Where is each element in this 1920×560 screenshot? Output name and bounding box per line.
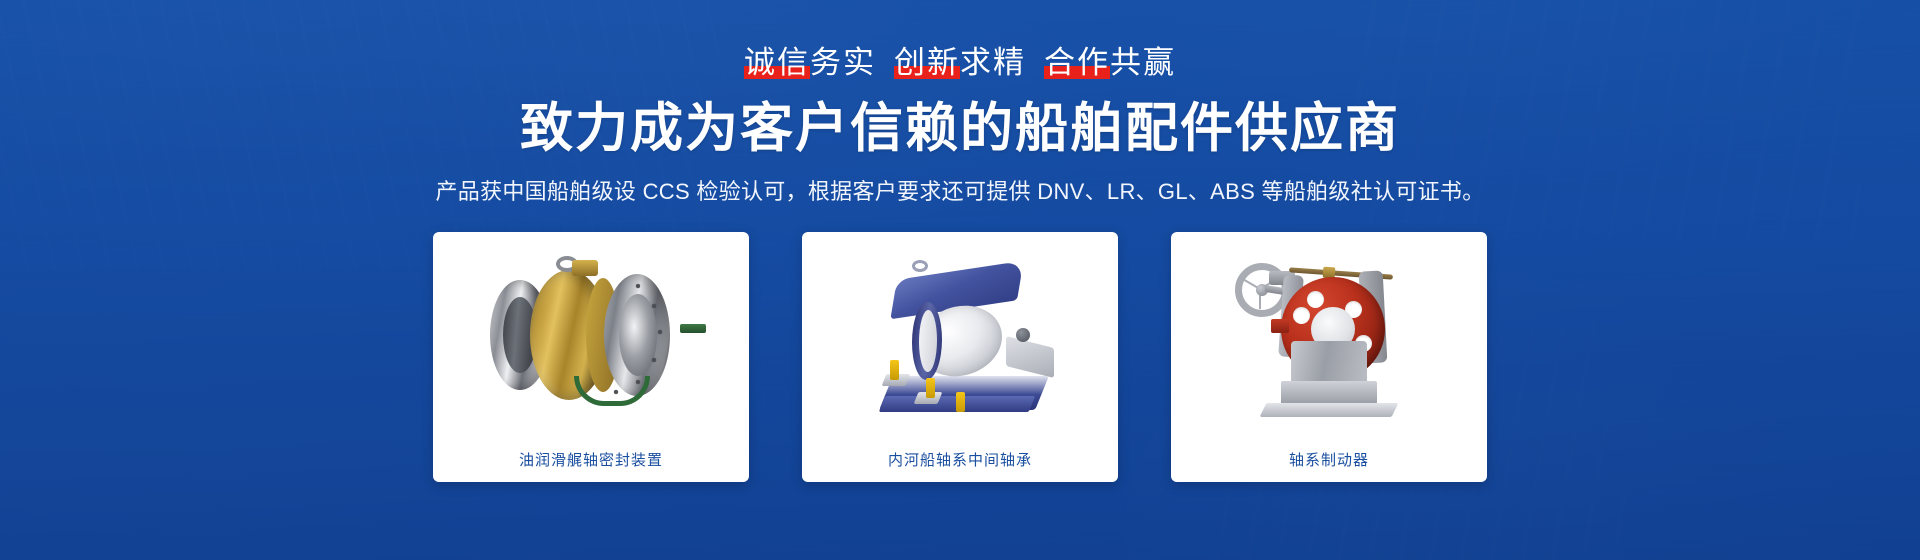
tagline-rest-1: 务实 <box>810 45 876 80</box>
product-card-label: 内河船轴系中间轴承 <box>888 436 1032 482</box>
seal-top-block <box>572 260 598 276</box>
bearing-oiler-knob <box>1016 328 1030 342</box>
bearing-yellow-marker <box>926 378 935 398</box>
brake-disc-hole <box>1293 307 1310 324</box>
brake-base-foot <box>1260 403 1399 417</box>
bearing-lifting-eye <box>912 260 928 272</box>
bearing-name-plate <box>1006 336 1054 378</box>
product-image-oil-lubricated-stern-shaft-seal <box>433 232 749 436</box>
product-image-inland-river-intermediate-bearing <box>802 232 1118 436</box>
tagline-highlight-1: 诚信 <box>744 47 810 78</box>
bearing-yellow-marker <box>956 392 965 412</box>
bearing-yellow-marker <box>890 360 899 380</box>
seal-bolt <box>658 330 662 334</box>
brake-base-block <box>1281 381 1377 405</box>
banner-content: 诚信务实创新求精合作共赢 致力成为客户信赖的船舶配件供应商 产品获中国船舶级设 … <box>0 0 1920 560</box>
product-card-label: 轴系制动器 <box>1289 436 1369 482</box>
product-card-shaft-brake[interactable]: 轴系制动器 <box>1171 232 1487 482</box>
product-card-intermediate-bearing[interactable]: 内河船轴系中间轴承 <box>802 232 1118 482</box>
shaft-brake-illustration <box>1229 249 1429 419</box>
brake-disc-lug <box>1271 319 1289 333</box>
product-image-shaft-brake <box>1171 232 1487 436</box>
tagline-rest-3: 共赢 <box>1110 45 1176 80</box>
seal-bolt <box>652 358 656 362</box>
tagline-rest-2: 求精 <box>960 45 1026 80</box>
tagline-highlight-2: 创新 <box>894 47 960 78</box>
seal-bolt <box>636 284 640 288</box>
intermediate-bearing-illustration <box>860 254 1060 414</box>
banner-headline: 致力成为客户信赖的船舶配件供应商 <box>520 102 1400 155</box>
seal-green-tab <box>680 324 706 333</box>
banner-tagline: 诚信务实创新求精合作共赢 <box>744 47 1176 78</box>
seal-bolt <box>636 380 640 384</box>
tagline-highlight-3: 合作 <box>1044 47 1110 78</box>
banner-subtitle: 产品获中国船舶级设 CCS 检验认可，根据客户要求还可提供 DNV、LR、GL、… <box>435 181 1484 203</box>
seal-bolt <box>652 304 656 308</box>
tagline-segment-2: 创新求精 <box>894 47 1026 78</box>
seal-bolt <box>614 390 618 394</box>
hero-banner: 诚信务实创新求精合作共赢 致力成为客户信赖的船舶配件供应商 产品获中国船舶级设 … <box>0 0 1920 560</box>
product-card-label: 油润滑艉轴密封装置 <box>519 436 663 482</box>
stern-shaft-seal-illustration <box>486 264 696 404</box>
tagline-segment-3: 合作共赢 <box>1044 47 1176 78</box>
product-card-stern-shaft-seal[interactable]: 油润滑艉轴密封装置 <box>433 232 749 482</box>
tagline-segment-1: 诚信务实 <box>744 47 876 78</box>
brake-disc-hole <box>1307 291 1324 308</box>
product-card-list: 油润滑艉轴密封装置 <box>433 232 1487 482</box>
